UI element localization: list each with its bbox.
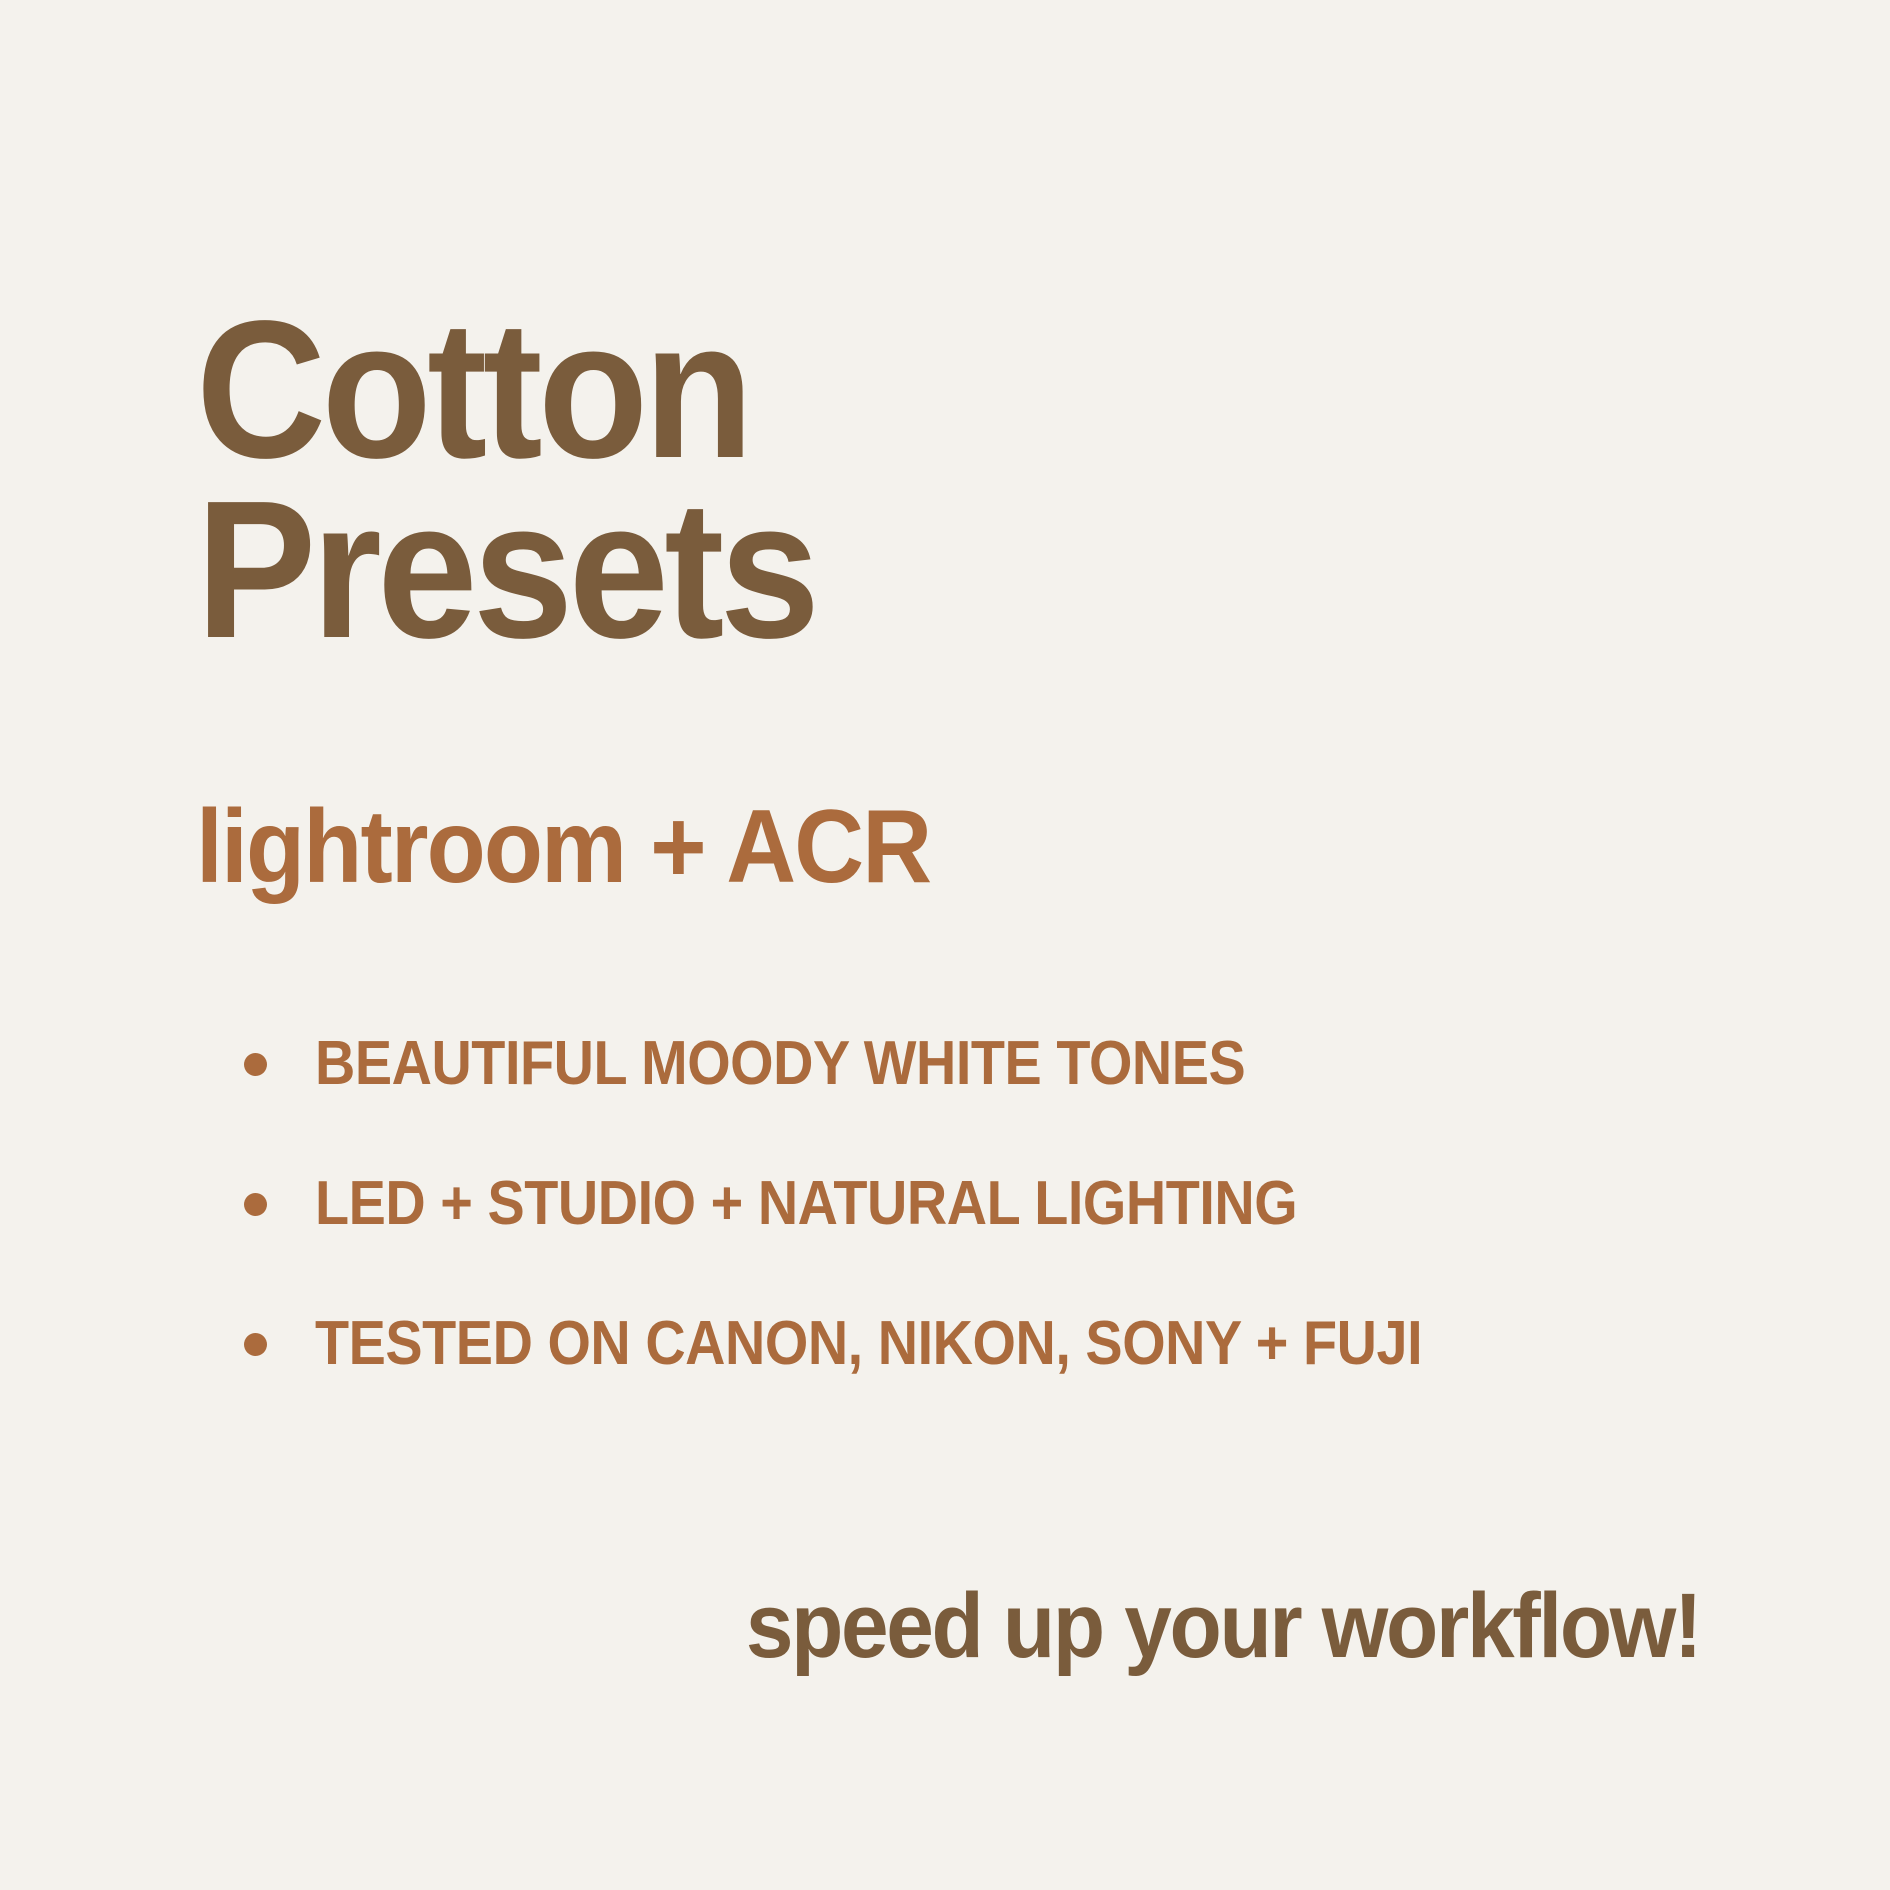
list-item: LED + STUDIO + NATURAL LIGHTING (244, 1158, 1804, 1250)
tagline-text: speed up your workflow! (746, 1580, 1700, 1672)
bullet-dot-icon (244, 1193, 267, 1216)
list-item: BEAUTIFUL MOODY WHITE TONES (244, 1018, 1804, 1110)
title-line-2: Presets (196, 480, 1576, 660)
title-line-1: Cotton (196, 300, 1576, 480)
page-title: Cotton Presets (196, 300, 1696, 661)
feature-label: LED + STUDIO + NATURAL LIGHTING (315, 1173, 1297, 1235)
feature-list: BEAUTIFUL MOODY WHITE TONES LED + STUDIO… (244, 1018, 1804, 1438)
subtitle: lightroom + ACR (196, 795, 930, 899)
feature-label: TESTED ON CANON, NIKON, SONY + FUJI (315, 1313, 1422, 1375)
bullet-dot-icon (244, 1333, 267, 1356)
feature-label: BEAUTIFUL MOODY WHITE TONES (315, 1033, 1245, 1095)
bullet-dot-icon (244, 1053, 267, 1076)
tagline: speed up your workflow! (0, 1580, 1700, 1672)
list-item: TESTED ON CANON, NIKON, SONY + FUJI (244, 1298, 1804, 1390)
poster-canvas: Cotton Presets lightroom + ACR BEAUTIFUL… (0, 0, 1890, 1890)
